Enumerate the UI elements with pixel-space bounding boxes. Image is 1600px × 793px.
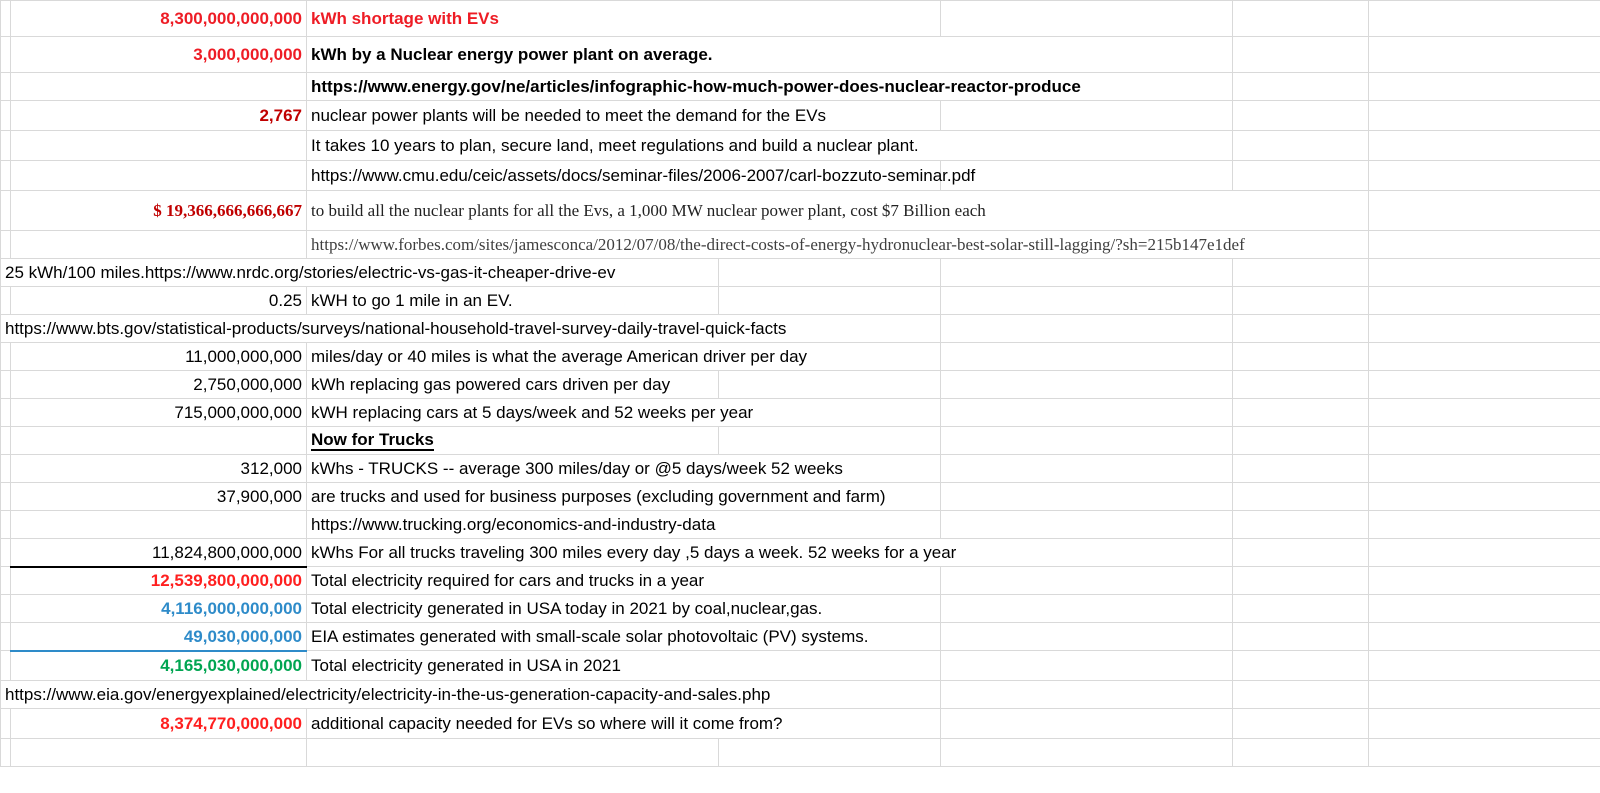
cell-e[interactable] [941,739,1233,767]
cell-label-eia-solar[interactable]: EIA estimates generated with small-scale… [307,623,941,651]
cell-a[interactable] [1,511,11,539]
table-row [1,739,1600,767]
cell-e[interactable] [941,651,1233,681]
cell-g[interactable] [1369,483,1600,511]
cell-g[interactable] [1369,287,1600,315]
cell-a[interactable] [1,709,11,739]
table-row: 25 kWh/100 miles.https://www.nrdc.org/st… [1,259,1600,287]
cell-value-kwh-per-day[interactable]: 2,750,000,000 [11,371,307,399]
cell-f[interactable] [1233,343,1369,371]
cell-a[interactable] [1,231,11,259]
table-row: https://www.cmu.edu/ceic/assets/docs/sem… [1,161,1600,191]
cell-f[interactable] [1233,623,1369,651]
cell-g[interactable] [1369,455,1600,483]
cell-value-truck-total[interactable]: 11,824,800,000,000 [11,539,307,567]
cell-label-miles-per-day[interactable]: miles/day or 40 miles is what the averag… [307,343,941,371]
table-row: 8,374,770,000,000 additional capacity ne… [1,709,1600,739]
table-row: 4,116,000,000,000 Total electricity gene… [1,595,1600,623]
table-row: 49,030,000,000 EIA estimates generated w… [1,623,1600,651]
cell-g[interactable] [1369,37,1600,73]
table-row: https://www.energy.gov/ne/articles/infog… [1,73,1600,101]
cell-g[interactable] [1369,131,1600,161]
cell-a[interactable] [1,37,11,73]
cell-value-plants-needed[interactable]: 2,767 [11,101,307,131]
cell-label-kwh-per-mile[interactable]: kWH to go 1 mile in an EV. [307,287,719,315]
cell-source-cmu[interactable]: https://www.cmu.edu/ceic/assets/docs/sem… [307,161,941,191]
cell-f[interactable] [1233,739,1369,767]
cell-label-plants-needed[interactable]: nuclear power plants will be needed to m… [307,101,941,131]
cell-f[interactable] [1233,567,1369,595]
cell-g[interactable] [1369,101,1600,131]
cell-d[interactable] [719,427,941,455]
table-row: https://www.bts.gov/statistical-products… [1,315,1600,343]
cell-e[interactable] [941,259,1233,287]
cell-d[interactable] [719,287,941,315]
cell-a[interactable] [1,73,11,101]
cell-g[interactable] [1369,73,1600,101]
cell-value-kwh-per-mile[interactable]: 0.25 [11,287,307,315]
cell-ten-years[interactable]: It takes 10 years to plan, secure land, … [307,131,1233,161]
cell-g[interactable] [1369,595,1600,623]
cell-f[interactable] [1233,511,1369,539]
cell-label-kwh-cars-year[interactable]: kWH replacing cars at 5 days/week and 52… [307,399,941,427]
table-row: 0.25 kWH to go 1 mile in an EV. [1,287,1600,315]
cell-a[interactable] [1,623,11,651]
cell-f[interactable] [1233,287,1369,315]
cell-value-miles-per-day[interactable]: 11,000,000,000 [11,343,307,371]
cell-f[interactable] [1233,651,1369,681]
table-row: 12,539,800,000,000 Total electricity req… [1,567,1600,595]
cell-e[interactable] [941,455,1233,483]
cell-value-truck-kwhs[interactable]: 312,000 [11,455,307,483]
cell-a[interactable] [1,161,11,191]
cell-e[interactable] [941,483,1233,511]
table-row: https://www.forbes.com/sites/jamesconca/… [1,231,1600,259]
cell-a[interactable] [1,131,11,161]
cell-g[interactable] [1369,259,1600,287]
cell-source-bts[interactable]: https://www.bts.gov/statistical-products… [1,315,941,343]
cell-b[interactable] [11,131,307,161]
cell-e[interactable] [941,681,1233,709]
cell-g[interactable] [1369,623,1600,651]
cell-label-truck-kwhs[interactable]: kWhs - TRUCKS -- average 300 miles/day o… [307,455,941,483]
cell-value-nuclear-output[interactable]: 3,000,000,000 [11,37,307,73]
cell-e[interactable] [941,101,1233,131]
cell-d[interactable] [719,371,941,399]
cell-g[interactable] [1369,399,1600,427]
cell-c[interactable] [307,739,719,767]
cell-source-eia[interactable]: https://www.eia.gov/energyexplained/elec… [1,681,941,709]
table-row: 11,000,000,000 miles/day or 40 miles is … [1,343,1600,371]
cell-e[interactable] [941,315,1233,343]
cell-label-build-cost[interactable]: to build all the nuclear plants for all … [307,191,1369,231]
cell-g[interactable] [1369,427,1600,455]
cell-g[interactable] [1369,709,1600,739]
cell-f[interactable] [1233,315,1369,343]
cell-b[interactable] [11,161,307,191]
cell-a[interactable] [1,427,11,455]
table-row: 3,000,000,000 kWh by a Nuclear energy po… [1,37,1600,73]
cell-label-shortage[interactable]: kWh shortage with EVs [307,1,941,37]
cell-e[interactable] [941,343,1233,371]
table-row: 37,900,000 are trucks and used for busin… [1,483,1600,511]
cell-label-truck-total[interactable]: kWhs For all trucks traveling 300 miles … [307,539,1233,567]
cell-a[interactable] [1,739,11,767]
now-for-trucks-label: Now for Trucks [311,431,434,451]
cell-e[interactable] [941,623,1233,651]
cell-a[interactable] [1,287,11,315]
cell-b[interactable] [11,73,307,101]
cell-g[interactable] [1369,371,1600,399]
cell-value-build-cost[interactable]: $ 19,366,666,666,667 [11,191,307,231]
cell-d[interactable] [719,739,941,767]
cell-label-total-usa-2021[interactable]: Total electricity generated in USA in 20… [307,651,941,681]
cell-a[interactable] [1,595,11,623]
spreadsheet-canvas: 8,300,000,000,000 kWh shortage with EVs … [0,0,1600,793]
cell-source-trucking[interactable]: https://www.trucking.org/economics-and-i… [307,511,941,539]
cell-a[interactable] [1,399,11,427]
cell-g[interactable] [1369,681,1600,709]
cell-e[interactable] [941,511,1233,539]
cell-f[interactable] [1233,131,1369,161]
cell-a[interactable] [1,483,11,511]
spreadsheet-grid: 8,300,000,000,000 kWh shortage with EVs … [0,0,1600,767]
cell-a[interactable] [1,455,11,483]
cell-label-kwh-per-day[interactable]: kWh replacing gas powered cars driven pe… [307,371,719,399]
cell-a[interactable] [1,651,11,681]
cell-f[interactable] [1233,371,1369,399]
cell-f[interactable] [1233,399,1369,427]
cell-g[interactable] [1369,739,1600,767]
cell-g[interactable] [1369,511,1600,539]
table-row: 8,300,000,000,000 kWh shortage with EVs [1,1,1600,37]
table-row: 715,000,000,000 kWH replacing cars at 5 … [1,399,1600,427]
cell-e[interactable] [941,427,1233,455]
table-row: 2,767 nuclear power plants will be neede… [1,101,1600,131]
cell-source-forbes[interactable]: https://www.forbes.com/sites/jamesconca/… [307,231,1369,259]
cell-f[interactable] [1233,37,1369,73]
cell-e[interactable] [941,567,1233,595]
table-row: It takes 10 years to plan, secure land, … [1,131,1600,161]
cell-f[interactable] [1233,681,1369,709]
cell-f[interactable] [1233,595,1369,623]
cell-f[interactable] [1233,161,1369,191]
table-row: https://www.eia.gov/energyexplained/elec… [1,681,1600,709]
cell-a[interactable] [1,567,11,595]
cell-b[interactable] [11,739,307,767]
table-row: https://www.trucking.org/economics-and-i… [1,511,1600,539]
cell-b[interactable] [11,511,307,539]
table-row: $ 19,366,666,666,667 to build all the nu… [1,191,1600,231]
cell-value-total-usa-2021[interactable]: 4,165,030,000,000 [11,651,307,681]
cell-f[interactable] [1233,709,1369,739]
cell-label-total-required[interactable]: Total electricity required for cars and … [307,567,941,595]
cell-e[interactable] [941,371,1233,399]
cell-e[interactable] [941,287,1233,315]
cell-label-additional-capacity[interactable]: additional capacity needed for EVs so wh… [307,709,941,739]
cell-value-shortage[interactable]: 8,300,000,000,000 [11,1,307,37]
cell-label-nuclear-output[interactable]: kWh by a Nuclear energy power plant on a… [307,37,1233,73]
cell-g[interactable] [1369,191,1600,231]
cell-f[interactable] [1233,101,1369,131]
cell-f[interactable] [1233,1,1369,37]
cell-g[interactable] [1369,343,1600,371]
table-row: Now for Trucks [1,427,1600,455]
cell-value-eia-solar[interactable]: 49,030,000,000 [11,623,307,651]
cell-a[interactable] [1,101,11,131]
cell-d[interactable] [719,259,941,287]
cell-f[interactable] [1233,455,1369,483]
cell-e[interactable] [941,595,1233,623]
table-row: 312,000 kWhs - TRUCKS -- average 300 mil… [1,455,1600,483]
cell-e[interactable] [941,161,1233,191]
cell-f[interactable] [1233,427,1369,455]
table-row: 4,165,030,000,000 Total electricity gene… [1,651,1600,681]
table-row: 11,824,800,000,000 kWhs For all trucks t… [1,539,1600,567]
cell-source-energy-gov[interactable]: https://www.energy.gov/ne/articles/infog… [307,73,1233,101]
cell-value-total-generated[interactable]: 4,116,000,000,000 [11,595,307,623]
table-row: 2,750,000,000 kWh replacing gas powered … [1,371,1600,399]
cell-b[interactable] [11,231,307,259]
cell-g[interactable] [1369,1,1600,37]
cell-value-total-required[interactable]: 12,539,800,000,000 [11,567,307,595]
cell-g[interactable] [1369,231,1600,259]
cell-label-total-generated[interactable]: Total electricity generated in USA today… [307,595,941,623]
cell-a[interactable] [1,343,11,371]
cell-g[interactable] [1369,315,1600,343]
cell-source-nrdc[interactable]: 25 kWh/100 miles.https://www.nrdc.org/st… [1,259,719,287]
cell-a[interactable] [1,1,11,37]
cell-a[interactable] [1,539,11,567]
cell-g[interactable] [1369,651,1600,681]
cell-g[interactable] [1369,567,1600,595]
cell-value-truck-count[interactable]: 37,900,000 [11,483,307,511]
cell-f[interactable] [1233,259,1369,287]
cell-e[interactable] [941,1,1233,37]
cell-e[interactable] [941,399,1233,427]
cell-value-kwh-cars-year[interactable]: 715,000,000,000 [11,399,307,427]
cell-f[interactable] [1233,483,1369,511]
cell-value-additional-capacity[interactable]: 8,374,770,000,000 [11,709,307,739]
cell-b[interactable] [11,427,307,455]
cell-f[interactable] [1233,73,1369,101]
cell-g[interactable] [1369,539,1600,567]
cell-g[interactable] [1369,161,1600,191]
cell-f[interactable] [1233,539,1369,567]
cell-a[interactable] [1,371,11,399]
cell-now-for-trucks[interactable]: Now for Trucks [307,427,719,455]
cell-label-truck-count[interactable]: are trucks and used for business purpose… [307,483,941,511]
cell-a[interactable] [1,191,11,231]
cell-e[interactable] [941,709,1233,739]
